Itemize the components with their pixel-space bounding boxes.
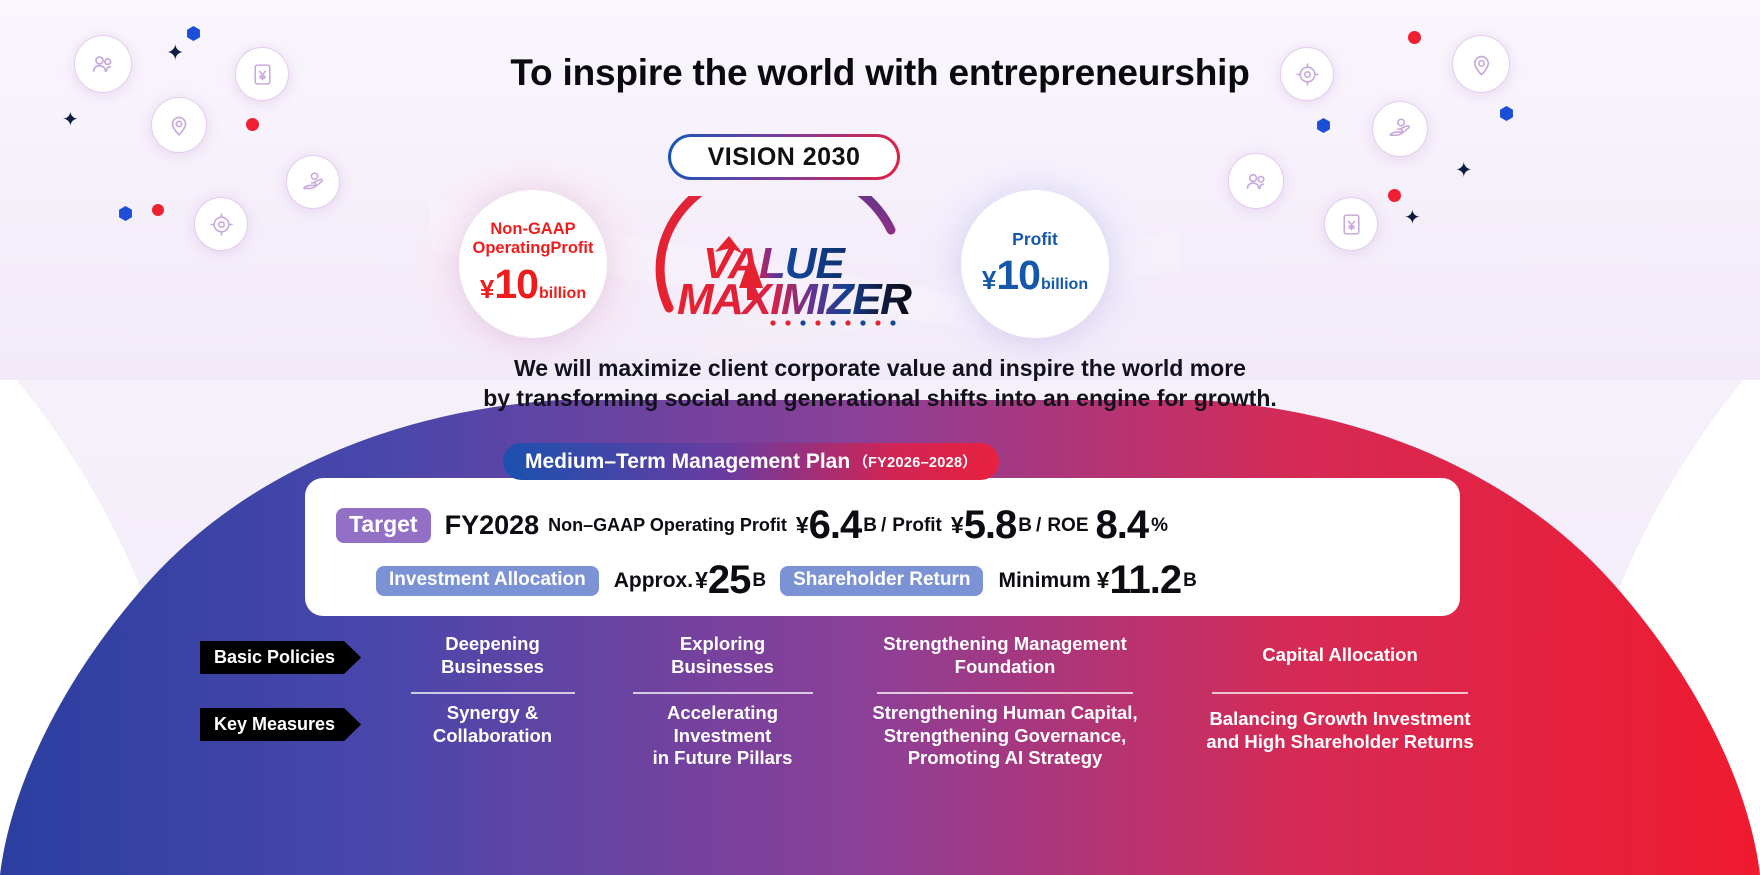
target-tag: Target	[336, 508, 431, 543]
kpi-right-caption-1: Profit	[1012, 229, 1058, 249]
kpi-left-unit: billion	[539, 285, 586, 303]
target-metric3-value: 8.4	[1096, 503, 1149, 548]
target-metric2-unit: B	[1018, 515, 1032, 537]
key-measure-2: Strengthening Human Capital,Strengthenin…	[845, 702, 1165, 770]
value-maximizer-logo: VALUE MAXIMIZER	[655, 196, 925, 326]
return-value: 11.2	[1109, 558, 1181, 603]
target-metric2-value: 5.8	[964, 503, 1017, 548]
column-divider-1	[633, 692, 813, 694]
key-measure-3: Balancing Growth Investmentand High Shar…	[1180, 708, 1500, 753]
target-metric3-unit: %	[1151, 515, 1168, 537]
target-separator-1: /	[881, 515, 886, 537]
target-separator-2: /	[1036, 515, 1041, 537]
kpi-non-gaap-operating-profit: Non-GAAP OperatingProfit ¥ 10 billion	[459, 190, 607, 338]
target-metric1-unit: B	[863, 515, 877, 537]
strategy-column-grid: DeepeningBusinesses Synergy &Collaborati…	[195, 616, 1565, 875]
target-metric1-label: Non–GAAP Operating Profit	[548, 515, 787, 536]
logo-word-maximizer: MAXIMIZER	[677, 275, 912, 324]
page-title: To inspire the world with entrepreneursh…	[0, 52, 1760, 94]
target-metric2-currency: ¥	[951, 512, 964, 539]
basic-policy-0: DeepeningBusinesses	[390, 633, 595, 678]
logo-dot-row	[770, 320, 895, 325]
plan-period: （FY2026–2028）	[853, 451, 977, 472]
basic-policy-2: Strengthening ManagementFoundation	[845, 633, 1165, 678]
allocation-row: Investment Allocation Approx. ¥ 25 B Sha…	[376, 558, 1197, 603]
vision-description-line-2: by transforming social and generational …	[0, 383, 1760, 413]
vision-badge: VISION 2030	[668, 134, 900, 180]
investment-prefix: Approx.	[614, 569, 693, 593]
vision-description-line-1: We will maximize client corporate value …	[0, 353, 1760, 383]
basic-policy-3: Capital Allocation	[1180, 644, 1500, 667]
column-divider-3	[1212, 692, 1468, 694]
kpi-right-value: ¥ 10 billion	[982, 252, 1088, 299]
poster-stage: ✦ ✦	[0, 0, 1760, 875]
target-metric3-label: ROE	[1047, 515, 1088, 537]
basic-policy-1: ExploringBusinesses	[610, 633, 835, 678]
investment-unit: B	[752, 570, 766, 592]
return-prefix: Minimum	[998, 569, 1090, 593]
key-measure-1: AcceleratingInvestmentin Future Pillars	[610, 702, 835, 770]
kpi-left-number: 10	[494, 261, 538, 308]
column-divider-0	[411, 692, 575, 694]
target-metric2-label: Profit	[892, 515, 942, 537]
shareholder-return-tag: Shareholder Return	[780, 566, 983, 596]
kpi-left-caption-1: Non-GAAP	[490, 220, 575, 239]
target-row: Target FY2028 Non–GAAP Operating Profit …	[336, 503, 1168, 548]
investment-allocation-tag: Investment Allocation	[376, 566, 599, 596]
target-fiscal-year: FY2028	[445, 510, 540, 541]
target-metric1-currency: ¥	[796, 512, 809, 539]
return-currency: ¥	[1097, 567, 1110, 594]
kpi-left-value: ¥ 10 billion	[480, 261, 586, 308]
kpi-right-unit: billion	[1041, 276, 1088, 294]
investment-value: 25	[708, 558, 751, 603]
kpi-profit: Profit ¥ 10 billion	[961, 190, 1109, 338]
vision-description: We will maximize client corporate value …	[0, 353, 1760, 414]
plan-title: Medium–Term Management Plan	[525, 450, 850, 474]
kpi-left-currency: ¥	[480, 274, 494, 305]
key-measure-0: Synergy &Collaboration	[390, 702, 595, 747]
column-divider-2	[877, 692, 1133, 694]
target-metric1-value: 6.4	[809, 503, 862, 548]
kpi-right-currency: ¥	[982, 265, 996, 296]
strategy-columns: Basic Policies Key Measures DeepeningBus…	[0, 616, 1760, 875]
return-unit: B	[1183, 570, 1197, 592]
kpi-right-number: 10	[996, 252, 1040, 299]
kpi-left-caption-2: OperatingProfit	[472, 239, 593, 258]
investment-currency: ¥	[695, 567, 708, 594]
mid-term-plan-badge: Medium–Term Management Plan （FY2026–2028…	[503, 443, 999, 480]
